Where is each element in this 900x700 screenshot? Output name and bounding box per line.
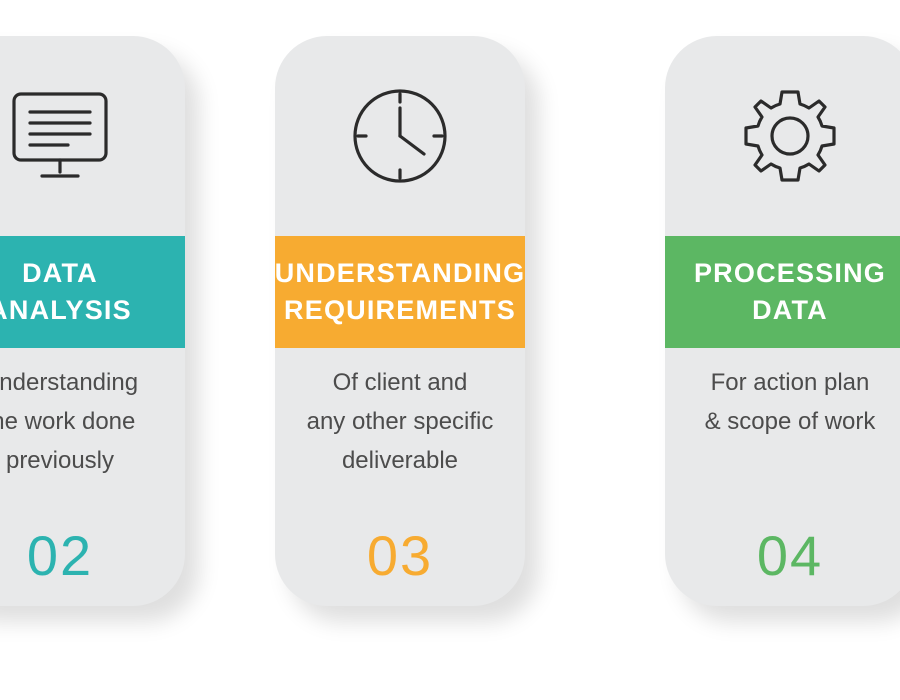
step-description-04: For action plan & scope of work: [665, 364, 900, 442]
step-description-03: Of client and any other specific deliver…: [275, 364, 525, 481]
gear-icon: [665, 36, 900, 236]
step-number-04: 04: [665, 523, 900, 588]
step-title-04: PROCESSING DATA: [694, 255, 886, 330]
step-number-02: 02: [0, 523, 185, 588]
step-band-03: UNDERSTANDING REQUIREMENTS: [275, 236, 525, 348]
clock-icon: [275, 36, 525, 236]
step-number-03: 03: [275, 523, 525, 588]
monitor-report-icon: [0, 36, 185, 236]
step-description-02: Understanding the work done previously: [0, 364, 185, 481]
step-title-02: DATA ANALYSIS: [0, 255, 132, 330]
step-band-02: DATA ANALYSIS: [0, 236, 185, 348]
step-card-04: PROCESSING DATA For action plan & scope …: [665, 36, 900, 606]
step-band-04: PROCESSING DATA: [665, 236, 900, 348]
step-card-02: DATA ANALYSIS Understanding the work don…: [0, 36, 185, 606]
step-card-03: UNDERSTANDING REQUIREMENTS Of client and…: [275, 36, 525, 606]
infographic-canvas: DATA ANALYSIS Understanding the work don…: [0, 0, 900, 700]
step-title-03: UNDERSTANDING REQUIREMENTS: [275, 255, 525, 330]
